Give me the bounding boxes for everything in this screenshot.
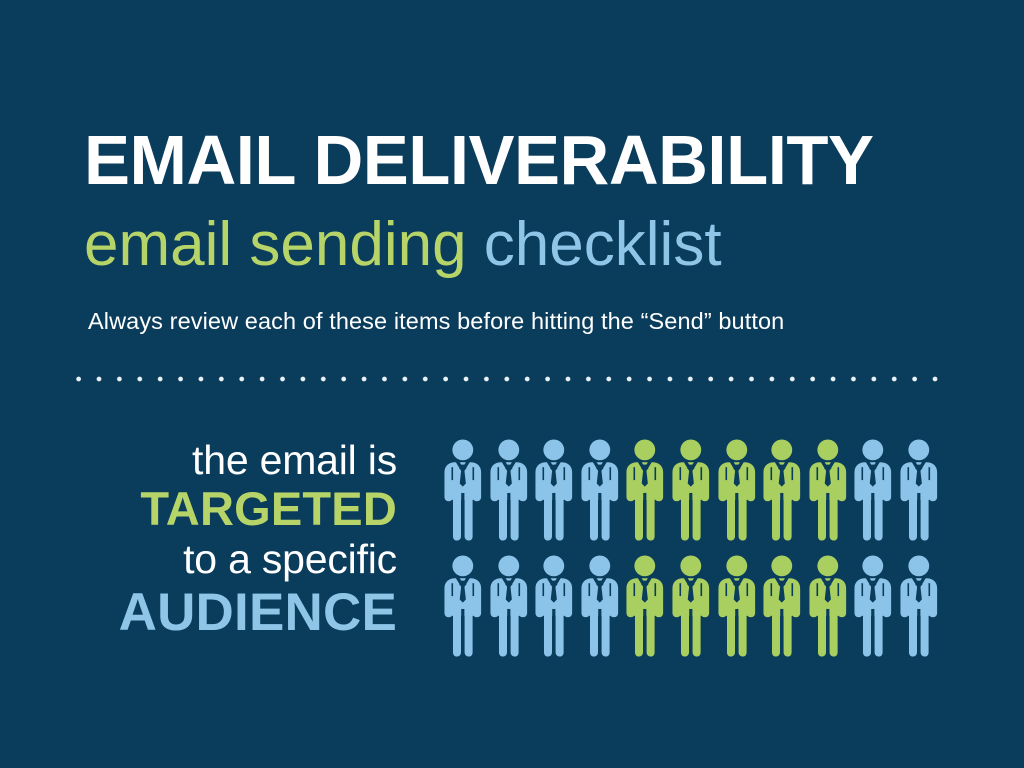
business-person-icon — [850, 554, 896, 658]
pictogram-row — [440, 438, 946, 542]
business-person-icon — [577, 554, 623, 658]
business-person-icon — [622, 438, 668, 542]
business-person-icon — [668, 554, 714, 658]
dotted-divider — [76, 375, 952, 383]
business-person-icon — [440, 438, 486, 542]
page-subtitle: email sending checklist — [84, 212, 964, 278]
caption-line-3: to a specific — [40, 535, 397, 584]
subtitle-segment-green: email sending — [84, 210, 467, 279]
business-person-icon — [622, 554, 668, 658]
business-person-icon — [896, 438, 942, 542]
business-person-icon — [759, 554, 805, 658]
business-person-icon — [805, 554, 851, 658]
business-person-icon — [896, 554, 942, 658]
pictogram-row — [440, 554, 946, 658]
caption-block: the email is TARGETED to a specific AUDI… — [40, 437, 397, 642]
business-person-icon — [668, 438, 714, 542]
business-person-icon — [577, 438, 623, 542]
people-pictogram-grid — [440, 438, 946, 658]
business-person-icon — [759, 438, 805, 542]
business-person-icon — [486, 438, 532, 542]
caption-line-4-audience: AUDIENCE — [40, 584, 397, 642]
business-person-icon — [486, 554, 532, 658]
business-person-icon — [440, 554, 486, 658]
infographic-poster: EMAIL DELIVERABILITY email sending check… — [0, 0, 1024, 768]
subtitle-segment-blue: checklist — [467, 210, 722, 279]
business-person-icon — [714, 438, 760, 542]
caption-line-2-targeted: TARGETED — [40, 483, 397, 535]
caption-line-1: the email is — [40, 437, 397, 483]
page-title: EMAIL DELIVERABILITY — [84, 124, 931, 196]
tagline: Always review each of these items before… — [88, 306, 968, 336]
business-person-icon — [714, 554, 760, 658]
business-person-icon — [531, 554, 577, 658]
business-person-icon — [805, 438, 851, 542]
business-person-icon — [531, 438, 577, 542]
business-person-icon — [850, 438, 896, 542]
